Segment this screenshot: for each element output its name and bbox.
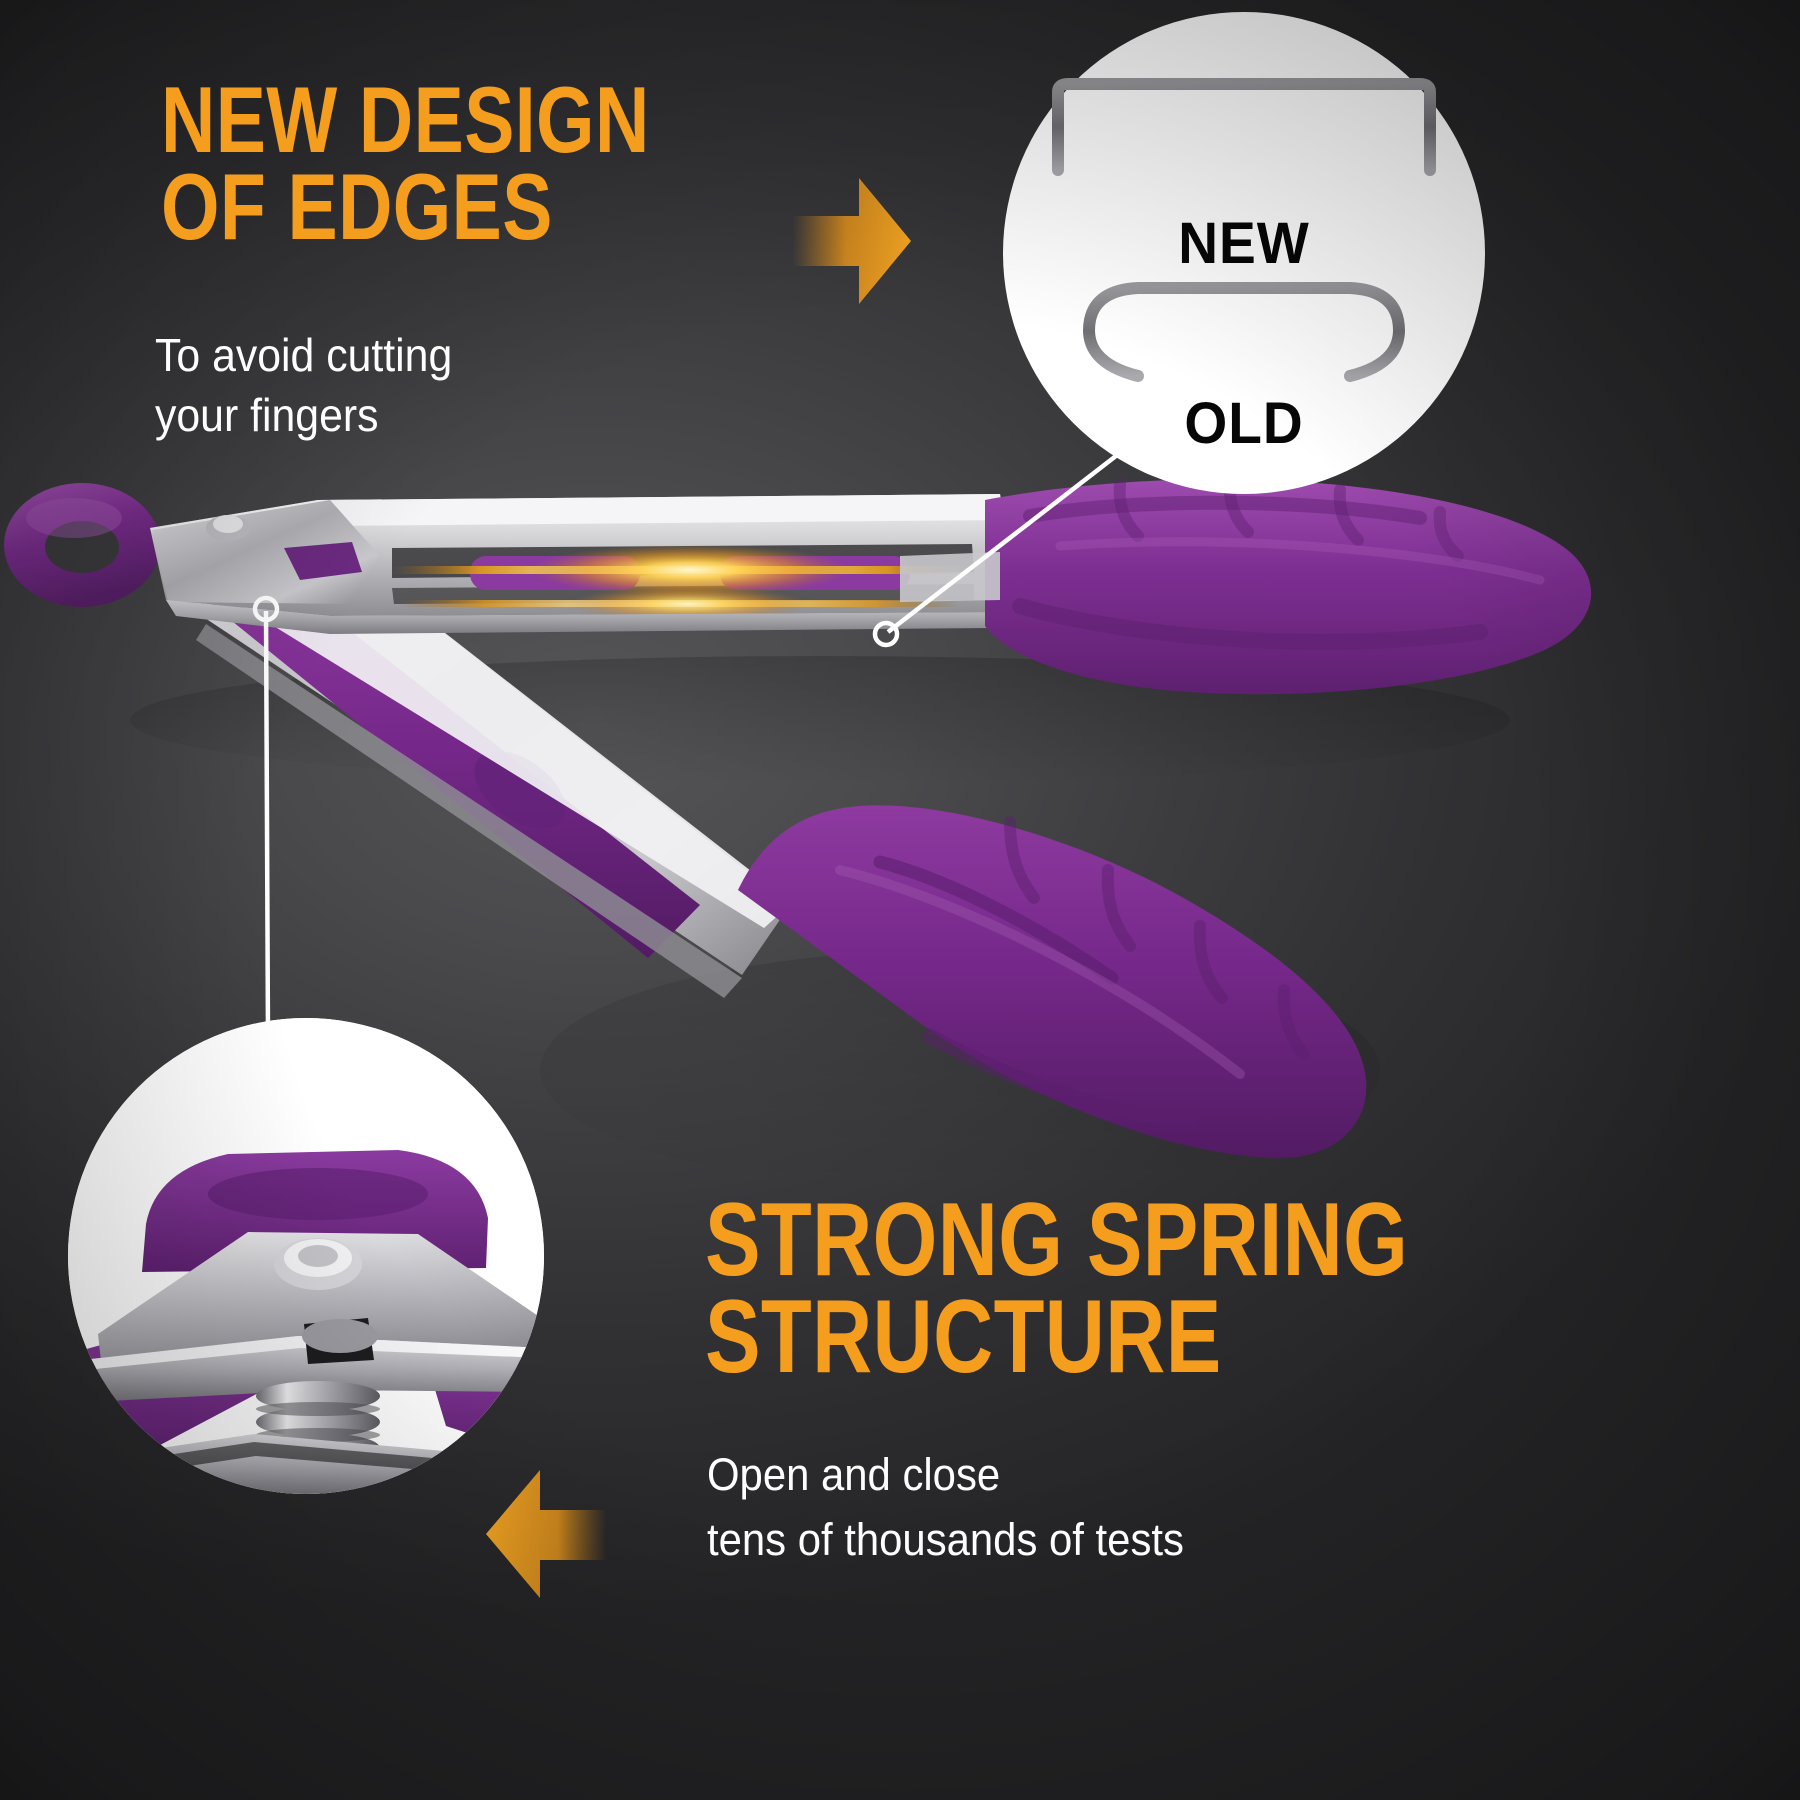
- subtitle-line: tens of thousands of tests: [707, 1507, 1184, 1572]
- subtitle-line: To avoid cutting: [155, 326, 452, 386]
- feature-subtitle-spring: Open and close tens of thousands of test…: [707, 1442, 1184, 1573]
- feature-subtitle-edges: To avoid cutting your fingers: [155, 326, 452, 446]
- feature-heading-edges: NEW DESIGN OF EDGES: [161, 76, 650, 251]
- infographic-canvas: NEW OLD: [0, 0, 1800, 1800]
- heading-line: STRONG SPRING: [705, 1192, 1408, 1289]
- heading-line: STRUCTURE: [705, 1289, 1408, 1386]
- feature-heading-spring: STRONG SPRING STRUCTURE: [705, 1192, 1408, 1385]
- heading-line: NEW DESIGN: [161, 76, 650, 163]
- subtitle-line: your fingers: [155, 386, 452, 446]
- subtitle-line: Open and close: [707, 1442, 1184, 1507]
- heading-line: OF EDGES: [161, 163, 650, 250]
